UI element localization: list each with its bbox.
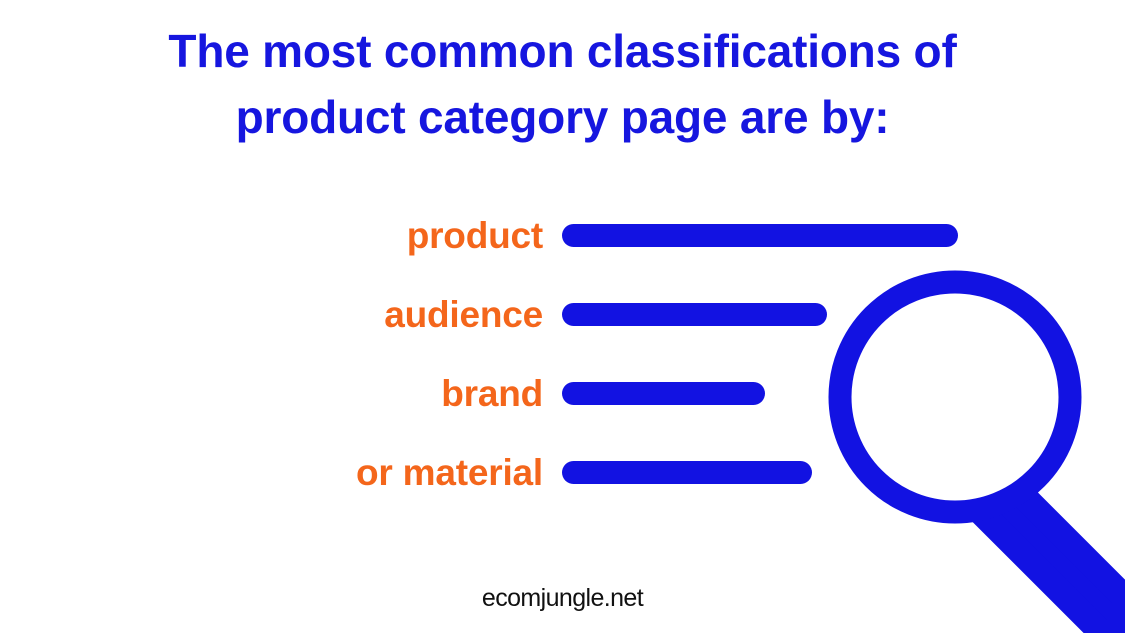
list-item-label: or material xyxy=(0,454,543,491)
list-item-bar xyxy=(562,224,958,247)
list-item: or material xyxy=(0,433,1125,512)
page-title-line-2: product category page are by: xyxy=(0,84,1125,150)
page-title-line-1: The most common classifications of xyxy=(0,18,1125,84)
list-item-bar xyxy=(562,382,765,405)
infographic-canvas: The most common classifications of produ… xyxy=(0,0,1125,633)
list-item-label: audience xyxy=(0,296,543,333)
site-watermark: ecomjungle.net xyxy=(0,584,1125,612)
list-item: audience xyxy=(0,275,1125,354)
list-item: product xyxy=(0,196,1125,275)
classification-list: product audience brand or material xyxy=(0,196,1125,512)
list-item-label: product xyxy=(0,217,543,254)
list-item-label: brand xyxy=(0,375,543,412)
page-title: The most common classifications of produ… xyxy=(0,18,1125,150)
list-item: brand xyxy=(0,354,1125,433)
list-item-bar xyxy=(562,461,812,484)
list-item-bar xyxy=(562,303,827,326)
